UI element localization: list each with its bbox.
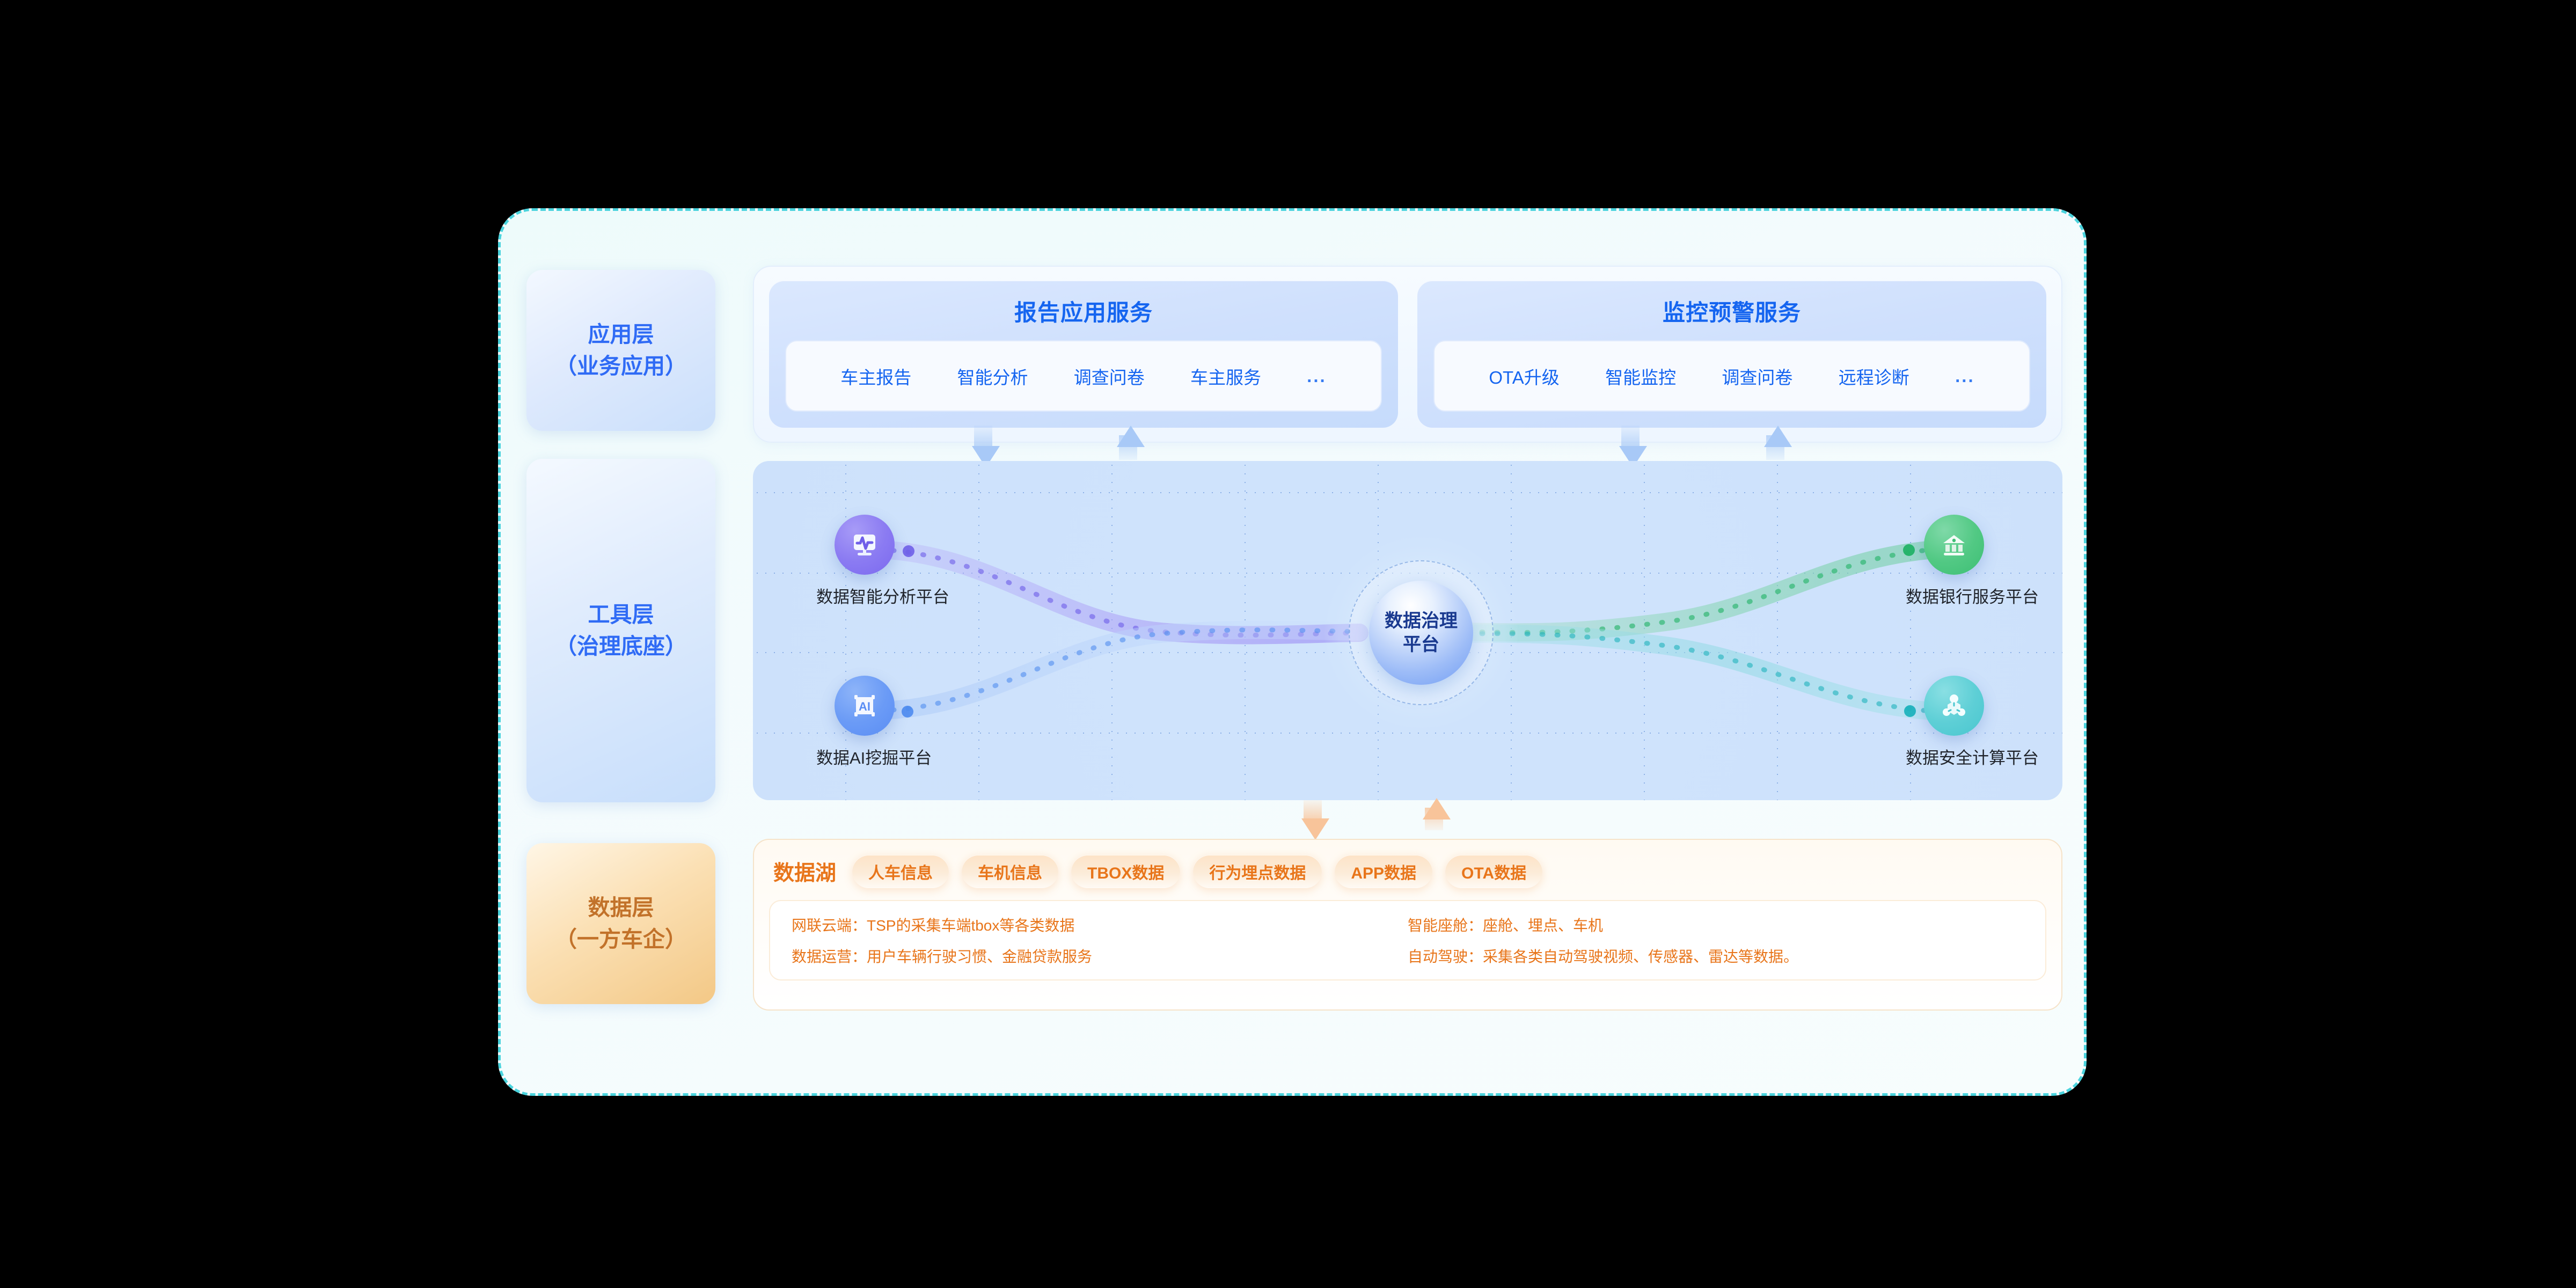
bank-icon: [1924, 515, 1984, 575]
node-label: 数据AI挖掘平台: [816, 744, 913, 769]
data-lake-tag[interactable]: 车机信息: [962, 855, 1058, 888]
service-item[interactable]: 智能监控: [1605, 363, 1676, 389]
layer-chip-application[interactable]: 应用层 （业务应用）: [526, 270, 715, 431]
node-data-bank-platform[interactable]: 数据银行服务平台: [1906, 515, 2002, 608]
application-layer-panel: 报告应用服务 车主报告 智能分析 调查问卷 车主服务 ... 监控预警服务 OT…: [753, 266, 2062, 443]
data-lake-tag[interactable]: TBOX数据: [1071, 855, 1180, 888]
service-item-more[interactable]: ...: [1307, 366, 1327, 386]
service-item[interactable]: 远程诊断: [1839, 363, 1909, 389]
arrow-up-data-to-tool: [1423, 798, 1451, 819]
node-label: 数据安全计算平台: [1906, 744, 2002, 769]
service-item[interactable]: OTA升级: [1489, 363, 1559, 389]
node-data-analysis-platform[interactable]: 数据智能分析平台: [816, 515, 913, 608]
service-card-report-title: 报告应用服务: [1014, 295, 1153, 327]
layer-data-subtitle: （一方车企）: [555, 924, 687, 955]
detail-line: 网联云端：TSP的采集车端tbox等各类数据: [792, 914, 1408, 935]
layer-app-title: 应用层: [588, 319, 654, 350]
arrow-stem: [974, 426, 992, 448]
arrow-down-tool-to-data: [1301, 818, 1329, 840]
service-item[interactable]: 调查问卷: [1722, 363, 1792, 389]
hub-title-line1: 数据治理: [1385, 611, 1458, 631]
node-data-security-compute-platform[interactable]: 数据安全计算平台: [1906, 676, 2002, 769]
service-card-report[interactable]: 报告应用服务 车主报告 智能分析 调查问卷 车主服务 ...: [769, 281, 1398, 428]
data-lake-title: 数据湖: [773, 857, 836, 887]
tool-layer-panel: 数据治理 平台 数据智能分析平台: [753, 461, 2062, 800]
architecture-outer-frame: 应用层 （业务应用） 工具层 （治理底座） 数据层 （一方车企） 报告应用服务 …: [498, 208, 2087, 1096]
hub-data-governance-platform[interactable]: 数据治理 平台: [1369, 581, 1473, 685]
detail-line: 数据运营：用户车辆行驶习惯、金融贷款服务: [792, 945, 1408, 967]
service-item[interactable]: 调查问卷: [1074, 363, 1145, 389]
detail-column-left: 网联云端：TSP的采集车端tbox等各类数据 数据运营：用户车辆行驶习惯、金融贷…: [792, 914, 1408, 967]
svg-text:AI: AI: [859, 700, 870, 713]
monitor-pulse-icon: [835, 515, 895, 575]
layer-tool-subtitle: （治理底座）: [555, 631, 687, 662]
shield-network-icon: [1924, 676, 1984, 736]
service-card-monitor[interactable]: 监控预警服务 OTA升级 智能监控 调查问卷 远程诊断 ...: [1417, 281, 2046, 428]
hub-title-line2: 平台: [1403, 634, 1439, 655]
data-layer-panel: 数据湖 人车信息 车机信息 TBOX数据 行为埋点数据 APP数据 OTA数据 …: [753, 839, 2062, 1011]
service-item-more[interactable]: ...: [1955, 366, 1975, 386]
service-card-monitor-title: 监控预警服务: [1663, 295, 1801, 327]
service-item[interactable]: 智能分析: [957, 363, 1028, 389]
node-label: 数据银行服务平台: [1906, 583, 2002, 608]
layer-tool-title: 工具层: [588, 599, 654, 631]
layer-chip-data[interactable]: 数据层 （一方车企）: [526, 843, 715, 1004]
node-label: 数据智能分析平台: [816, 583, 913, 608]
data-lake-detail-box: 网联云端：TSP的采集车端tbox等各类数据 数据运营：用户车辆行驶习惯、金融贷…: [769, 900, 2046, 980]
service-card-report-items: 车主报告 智能分析 调查问卷 车主服务 ...: [785, 340, 1382, 412]
service-card-monitor-items: OTA升级 智能监控 调查问卷 远程诊断 ...: [1433, 340, 2030, 412]
diagram-canvas: 应用层 （业务应用） 工具层 （治理底座） 数据层 （一方车企） 报告应用服务 …: [0, 0, 2576, 1288]
detail-line: 自动驾驶：采集各类自动驾驶视频、传感器、雷达等数据。: [1408, 945, 2024, 967]
service-item[interactable]: 车主报告: [840, 363, 911, 389]
detail-column-right: 智能座舱：座舱、埋点、车机 自动驾驶：采集各类自动驾驶视频、传感器、雷达等数据。: [1408, 914, 2024, 967]
arrow-stem: [1621, 426, 1640, 448]
service-item[interactable]: 车主服务: [1190, 363, 1261, 389]
ai-chip-icon: AI: [835, 676, 895, 736]
arrow-up-tool-to-app: [1764, 426, 1792, 447]
data-lake-tag[interactable]: OTA数据: [1445, 855, 1542, 888]
arrow-stem: [1304, 800, 1322, 821]
layer-chip-tool[interactable]: 工具层 （治理底座）: [526, 459, 715, 802]
data-lake-tag[interactable]: 行为埋点数据: [1193, 855, 1322, 888]
detail-line: 智能座舱：座舱、埋点、车机: [1408, 914, 2024, 935]
arrow-up-tool-to-app: [1117, 426, 1145, 447]
data-lake-tag[interactable]: APP数据: [1335, 855, 1432, 888]
node-data-ai-mining-platform[interactable]: AI 数据AI挖掘平台: [816, 676, 913, 769]
layer-data-title: 数据层: [588, 892, 654, 924]
data-lake-tag-row: 数据湖 人车信息 车机信息 TBOX数据 行为埋点数据 APP数据 OTA数据: [769, 853, 2046, 888]
layer-app-subtitle: （业务应用）: [555, 350, 687, 382]
layers-content-column: 报告应用服务 车主报告 智能分析 调查问卷 车主服务 ... 监控预警服务 OT…: [753, 211, 2062, 1093]
data-lake-tag[interactable]: 人车信息: [852, 855, 949, 888]
